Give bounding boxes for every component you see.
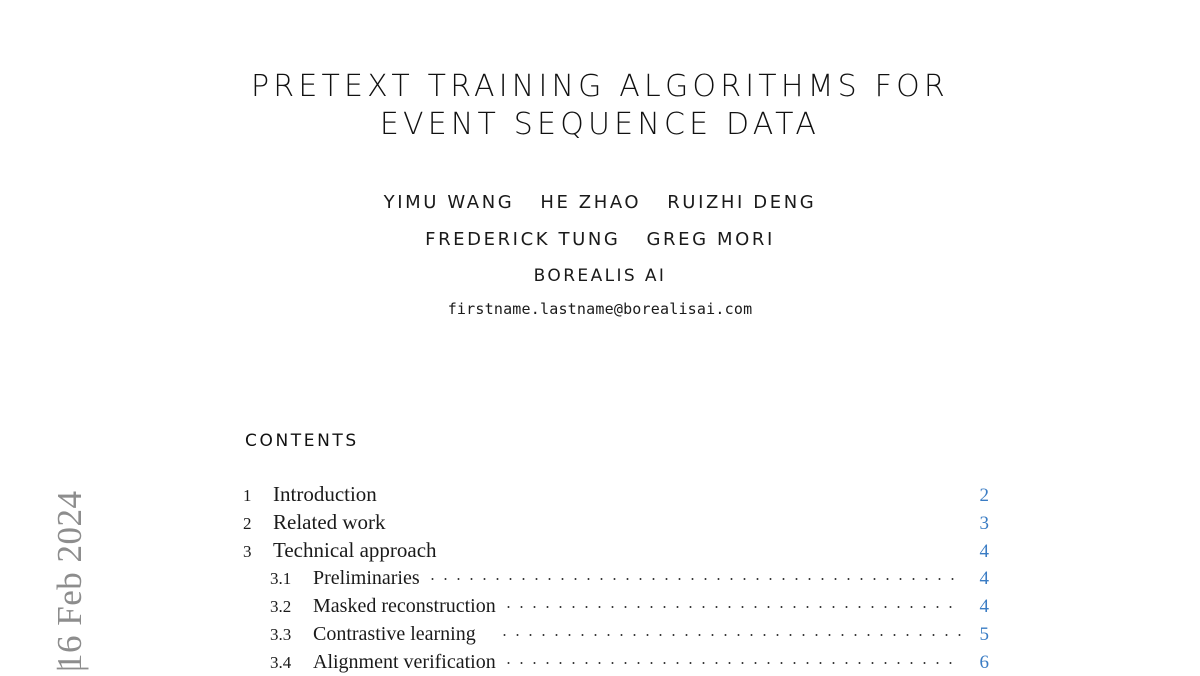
author-row-2: FREDERICK TUNGGREG MORI — [0, 221, 1200, 258]
toc-page-number[interactable]: 5 — [967, 624, 989, 646]
toc-leader-dots — [383, 480, 961, 501]
toc-entry[interactable]: 3.2Masked reconstruction4 — [243, 592, 989, 620]
toc-entry[interactable]: 1Introduction2 — [243, 480, 989, 508]
author-row-1: YIMU WANGHE ZHAORUIZHI DENG — [0, 184, 1200, 221]
toc-entry-label[interactable]: Related work — [273, 510, 386, 535]
toc-leader-dots — [443, 536, 961, 557]
toc-page-number[interactable]: 3 — [967, 513, 989, 535]
toc-page-number[interactable]: 4 — [967, 596, 989, 618]
toc-entry[interactable]: 3.4Alignment verification6 — [243, 648, 989, 676]
toc-entry-number: 3.2 — [270, 597, 313, 617]
toc-entry-label[interactable]: Alignment verification — [313, 651, 496, 674]
toc-entry-label[interactable]: Contrastive learning — [313, 623, 476, 646]
author-block: YIMU WANGHE ZHAORUIZHI DENG FREDERICK TU… — [0, 184, 1200, 295]
toc-entry[interactable]: 2Related work3 — [243, 508, 989, 536]
author-name: RUIZHI DENG — [667, 192, 816, 213]
toc-entry-number: 3 — [243, 542, 273, 562]
toc-entry-number: 1 — [243, 486, 273, 506]
paper-title: PRETEXT TRAINING ALGORITHMS FOR EVENT SE… — [0, 68, 1200, 144]
toc-leader-dots — [426, 564, 961, 584]
toc-entry-label[interactable]: Preliminaries — [313, 567, 420, 590]
toc-leader-dots — [502, 648, 961, 668]
toc-page-number[interactable]: 4 — [967, 541, 989, 563]
author-name: YIMU WANG — [384, 192, 515, 213]
title-line-1: PRETEXT TRAINING ALGORITHMS FOR — [0, 68, 1200, 106]
toc-entry[interactable]: 3.1Preliminaries4 — [243, 564, 989, 592]
toc-entry-number: 3.1 — [270, 569, 313, 589]
author-name: GREG MORI — [646, 229, 774, 250]
toc-entry-label[interactable]: Introduction — [273, 482, 377, 507]
toc-page-number[interactable]: 6 — [967, 652, 989, 674]
toc-entry[interactable]: 3.3Contrastive learning5 — [243, 620, 989, 648]
contact-email: firstname.lastname@borealisai.com — [0, 300, 1200, 318]
toc-entry[interactable]: 3Technical approach4 — [243, 536, 989, 564]
toc-page-number[interactable]: 2 — [967, 485, 989, 507]
toc-leader-dots — [502, 592, 961, 612]
toc-entry-number: 3.4 — [270, 653, 313, 673]
toc-entry-number: 2 — [243, 514, 273, 534]
contents-heading: CONTENTS — [245, 431, 359, 451]
toc-leader-dots — [392, 508, 961, 529]
title-line-2: EVENT SEQUENCE DATA — [0, 106, 1200, 144]
table-of-contents: 1Introduction22Related work33Technical a… — [243, 480, 989, 676]
arxiv-stamp-separator: | — [50, 671, 90, 672]
author-name: HE ZHAO — [540, 192, 641, 213]
toc-entry-number: 3.3 — [270, 625, 313, 645]
toc-leader-dots — [498, 620, 961, 640]
affiliation: BOREALIS AI — [0, 258, 1200, 295]
toc-page-number[interactable]: 4 — [967, 568, 989, 590]
toc-entry-label[interactable]: Masked reconstruction — [313, 595, 496, 618]
author-name: FREDERICK TUNG — [425, 229, 620, 250]
toc-entry-label[interactable]: Technical approach — [273, 538, 437, 563]
arxiv-stamp-date: 16 Feb 2024 — [50, 491, 89, 672]
